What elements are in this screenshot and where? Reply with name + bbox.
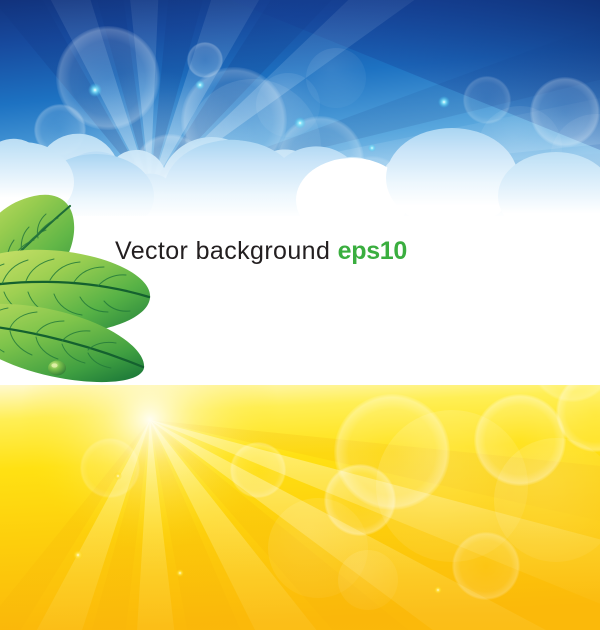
water-droplet-icon <box>48 361 66 376</box>
water-droplet-highlight <box>51 363 57 367</box>
headline-accent-text: eps10 <box>338 237 407 265</box>
headline: Vector background eps10 <box>115 239 407 264</box>
vector-background-artwork <box>0 0 600 630</box>
headline-plain-text: Vector background <box>115 237 338 265</box>
illustration-canvas: Vector background eps10 <box>0 0 600 630</box>
